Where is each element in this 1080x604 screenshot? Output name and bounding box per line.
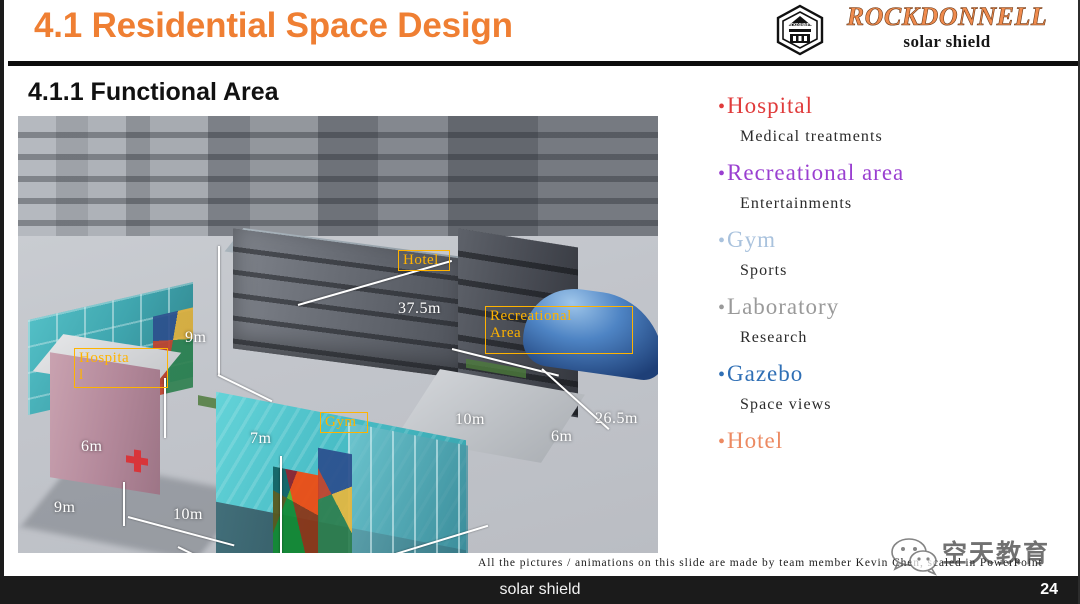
list-item-laboratory-desc: Research <box>740 328 1068 348</box>
slide: 4.1 Residential Space Design ROCKDONNELL… <box>0 0 1080 604</box>
list-item-hospital-desc: Medical treatments <box>740 127 1068 147</box>
rockdonnell-badge-icon: ROCKDONNELL <box>774 4 826 56</box>
functional-area-list: •Hospital Medical treatments •Recreation… <box>718 92 1068 456</box>
dim-7m: 7m <box>250 430 271 448</box>
bullet-dot-icon: • <box>718 297 726 319</box>
list-item-hospital: •Hospital <box>718 92 1068 121</box>
dim-37-5m: 37.5m <box>398 300 441 318</box>
list-item-gazebo-label: Gazebo <box>727 361 803 386</box>
list-item-gym-desc: Sports <box>740 261 1068 281</box>
list-item-hotel-label: Hotel <box>727 428 783 453</box>
list-item-gym: •Gym <box>718 226 1068 255</box>
dim-6m-left: 6m <box>81 438 102 456</box>
list-item-recreational-area-label: Recreational area <box>727 160 904 185</box>
bullet-dot-icon: • <box>718 163 726 185</box>
footer-label: solar shield <box>0 576 1080 604</box>
dim-26-5m: 26.5m <box>595 410 638 428</box>
brand-wordmark: ROCKDONNELL solar shield <box>842 2 1052 52</box>
bullet-dot-icon: • <box>718 96 726 118</box>
slide-number: 24 <box>1040 576 1058 604</box>
list-item-gym-label: Gym <box>727 227 776 252</box>
brand-logo: ROCKDONNELL ROCKDONNELL solar shield <box>770 2 1060 58</box>
bullet-dot-icon: • <box>718 364 726 386</box>
list-item-recreational-area-desc: Entertainments <box>740 194 1068 214</box>
list-item-recreational-area: •Recreational area <box>718 159 1068 188</box>
leader-line-1 <box>218 246 220 376</box>
list-item-hospital-label: Hospital <box>727 93 813 118</box>
dim-9m-left: 9m <box>54 499 75 517</box>
functional-area-render: 9m 37.5m 26.5m 10m 6m 7m 6m 9m 10m 6m 21… <box>18 116 658 553</box>
list-item-hotel: •Hotel <box>718 427 1068 456</box>
list-item-gazebo: •Gazebo <box>718 360 1068 389</box>
dim-6m-right: 6m <box>551 428 572 446</box>
header-divider <box>8 61 1080 66</box>
gym-glass-facade <box>348 422 468 553</box>
gym-glass-mullions <box>348 422 468 553</box>
mural-panel-b <box>318 448 352 553</box>
leader-line-7 <box>123 482 125 526</box>
slide-footer: solar shield 24 <box>0 576 1080 604</box>
brand-tagline: solar shield <box>842 32 1052 52</box>
label-hospital: Hospita l <box>74 348 168 388</box>
dim-9m-top: 9m <box>185 329 206 347</box>
bullet-dot-icon: • <box>718 230 726 252</box>
list-item-laboratory-label: Laboratory <box>727 294 839 319</box>
slide-left-edge <box>0 0 4 604</box>
bullet-dot-icon: • <box>718 431 726 453</box>
leader-line-11 <box>280 456 282 553</box>
list-item-laboratory: •Laboratory <box>718 293 1068 322</box>
label-recreational: Recreational Area <box>485 306 633 354</box>
page-title: 4.1 Residential Space Design <box>34 6 513 46</box>
list-item-gazebo-desc: Space views <box>740 395 1068 415</box>
brand-name: ROCKDONNELL <box>842 2 1052 32</box>
dim-10m-left: 10m <box>173 506 203 524</box>
slide-header: 4.1 Residential Space Design ROCKDONNELL… <box>4 0 1078 62</box>
label-gym: Gym <box>320 412 368 433</box>
label-hotel: Hotel <box>398 250 450 271</box>
section-subtitle: 4.1.1 Functional Area <box>28 78 279 107</box>
dim-10m-mid: 10m <box>455 411 485 429</box>
svg-text:ROCKDONNELL: ROCKDONNELL <box>785 23 814 29</box>
